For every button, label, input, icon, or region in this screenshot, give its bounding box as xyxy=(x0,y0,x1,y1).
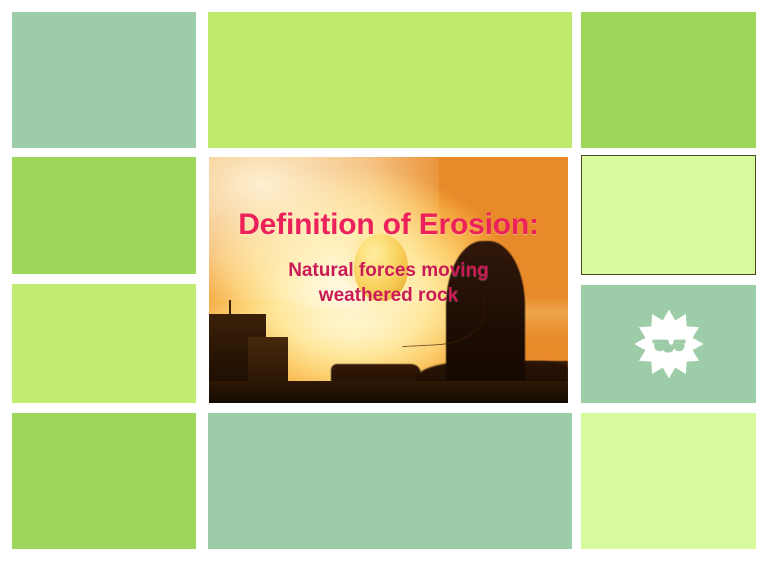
sun-sunglasses-icon xyxy=(633,308,705,380)
tile-bottom-left xyxy=(12,413,196,549)
slide-canvas: Definition of Erosion: Natural forces mo… xyxy=(0,0,768,561)
tile-top-right xyxy=(581,12,756,148)
tile-bottom-right xyxy=(581,413,756,549)
tile-middle-right xyxy=(581,155,756,275)
tile-middle-left xyxy=(12,157,196,274)
slide-subtitle-line-1: Natural forces moving xyxy=(231,258,546,283)
tile-top-center xyxy=(208,12,572,148)
slide-photo: Definition of Erosion: Natural forces mo… xyxy=(209,157,568,403)
slide-subtitle: Natural forces moving weathered rock xyxy=(231,258,546,308)
tile-bottom-center xyxy=(208,413,572,549)
tile-top-left xyxy=(12,12,196,148)
ground-ridge-silhouette xyxy=(209,381,568,403)
tile-lower-left xyxy=(12,284,196,403)
tile-lower-right-icon xyxy=(581,285,756,403)
slide-subtitle-line-2: weathered rock xyxy=(231,283,546,308)
slide-title: Definition of Erosion: xyxy=(209,209,568,241)
